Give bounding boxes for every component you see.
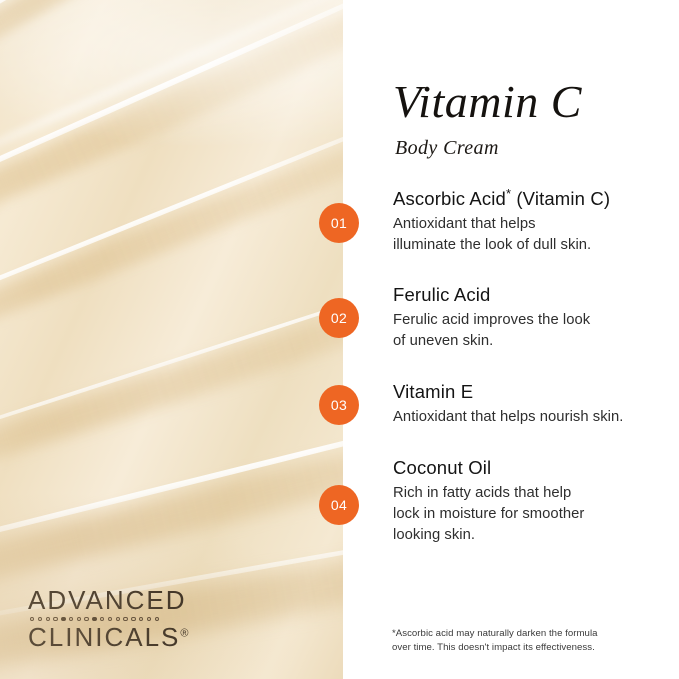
step-badge-01: 01	[319, 203, 359, 243]
brand-logo-dot	[100, 617, 104, 621]
cream-swirl-ribbon	[0, 0, 343, 322]
feature-item-2: Ferulic Acid Ferulic acid improves the l…	[393, 284, 679, 352]
content-panel: Vitamin C Body Cream Ascorbic Acid* (Vit…	[343, 0, 679, 679]
brand-logo-line-advanced: ADVANCED	[28, 587, 189, 614]
feature-title-1: Ascorbic Acid* (Vitamin C)	[393, 186, 679, 210]
brand-logo: ADVANCED CLINICALS®	[28, 587, 189, 651]
brand-logo-dot	[116, 617, 120, 621]
cream-swirl-ribbon	[0, 219, 343, 558]
cream-swirl-ribbon	[0, 0, 343, 185]
brand-logo-dot	[139, 617, 143, 621]
brand-logo-dot	[155, 617, 159, 621]
brand-logo-dot	[53, 617, 57, 621]
feature-title-3: Vitamin E	[393, 381, 679, 403]
feature-description-4: Rich in fatty acids that help lock in mo…	[393, 483, 679, 546]
cream-texture-photo: ADVANCED CLINICALS®	[0, 0, 343, 679]
cream-swirl-ribbon	[0, 48, 343, 429]
feature-description-3: Antioxidant that helps nourish skin.	[393, 407, 679, 428]
brand-logo-dot	[84, 617, 88, 621]
step-badge-04: 04	[319, 485, 359, 525]
feature-title-1-text: Ascorbic Acid	[393, 188, 506, 209]
brand-logo-clinicals-text: CLINICALS	[28, 622, 180, 652]
page-title: Vitamin C	[393, 79, 582, 125]
product-subtitle: Body Cream	[395, 137, 499, 160]
feature-title-1-suffix: (Vitamin C)	[511, 188, 610, 209]
product-infographic: ADVANCED CLINICALS® Vitamin C Body Cream…	[0, 0, 679, 679]
brand-logo-dot	[147, 617, 151, 621]
registered-trademark-icon: ®	[180, 628, 188, 640]
brand-logo-dot	[30, 617, 34, 621]
feature-item-1: Ascorbic Acid* (Vitamin C) Antioxidant t…	[393, 186, 679, 256]
brand-logo-dot	[108, 617, 112, 621]
brand-logo-dot	[69, 617, 73, 621]
footnote-disclaimer: *Ascorbic acid may naturally darken the …	[392, 627, 632, 656]
brand-logo-dot	[123, 617, 127, 621]
brand-logo-dot	[77, 617, 81, 621]
step-badge-03: 03	[319, 385, 359, 425]
brand-logo-dot	[61, 617, 65, 621]
step-badge-02: 02	[319, 298, 359, 338]
brand-logo-dot	[46, 617, 50, 621]
feature-title-4: Coconut Oil	[393, 457, 679, 479]
brand-logo-dot	[92, 617, 96, 621]
feature-item-3: Vitamin E Antioxidant that helps nourish…	[393, 381, 679, 428]
feature-item-4: Coconut Oil Rich in fatty acids that hel…	[393, 457, 679, 546]
brand-logo-line-clinicals: CLINICALS®	[28, 624, 189, 651]
feature-title-2: Ferulic Acid	[393, 284, 679, 306]
feature-description-2: Ferulic acid improves the look of uneven…	[393, 310, 679, 352]
feature-description-1: Antioxidant that helps illuminate the lo…	[393, 214, 679, 256]
cream-swirl-ribbon	[0, 0, 343, 115]
brand-logo-dot	[131, 617, 135, 621]
brand-logo-dot	[38, 617, 42, 621]
